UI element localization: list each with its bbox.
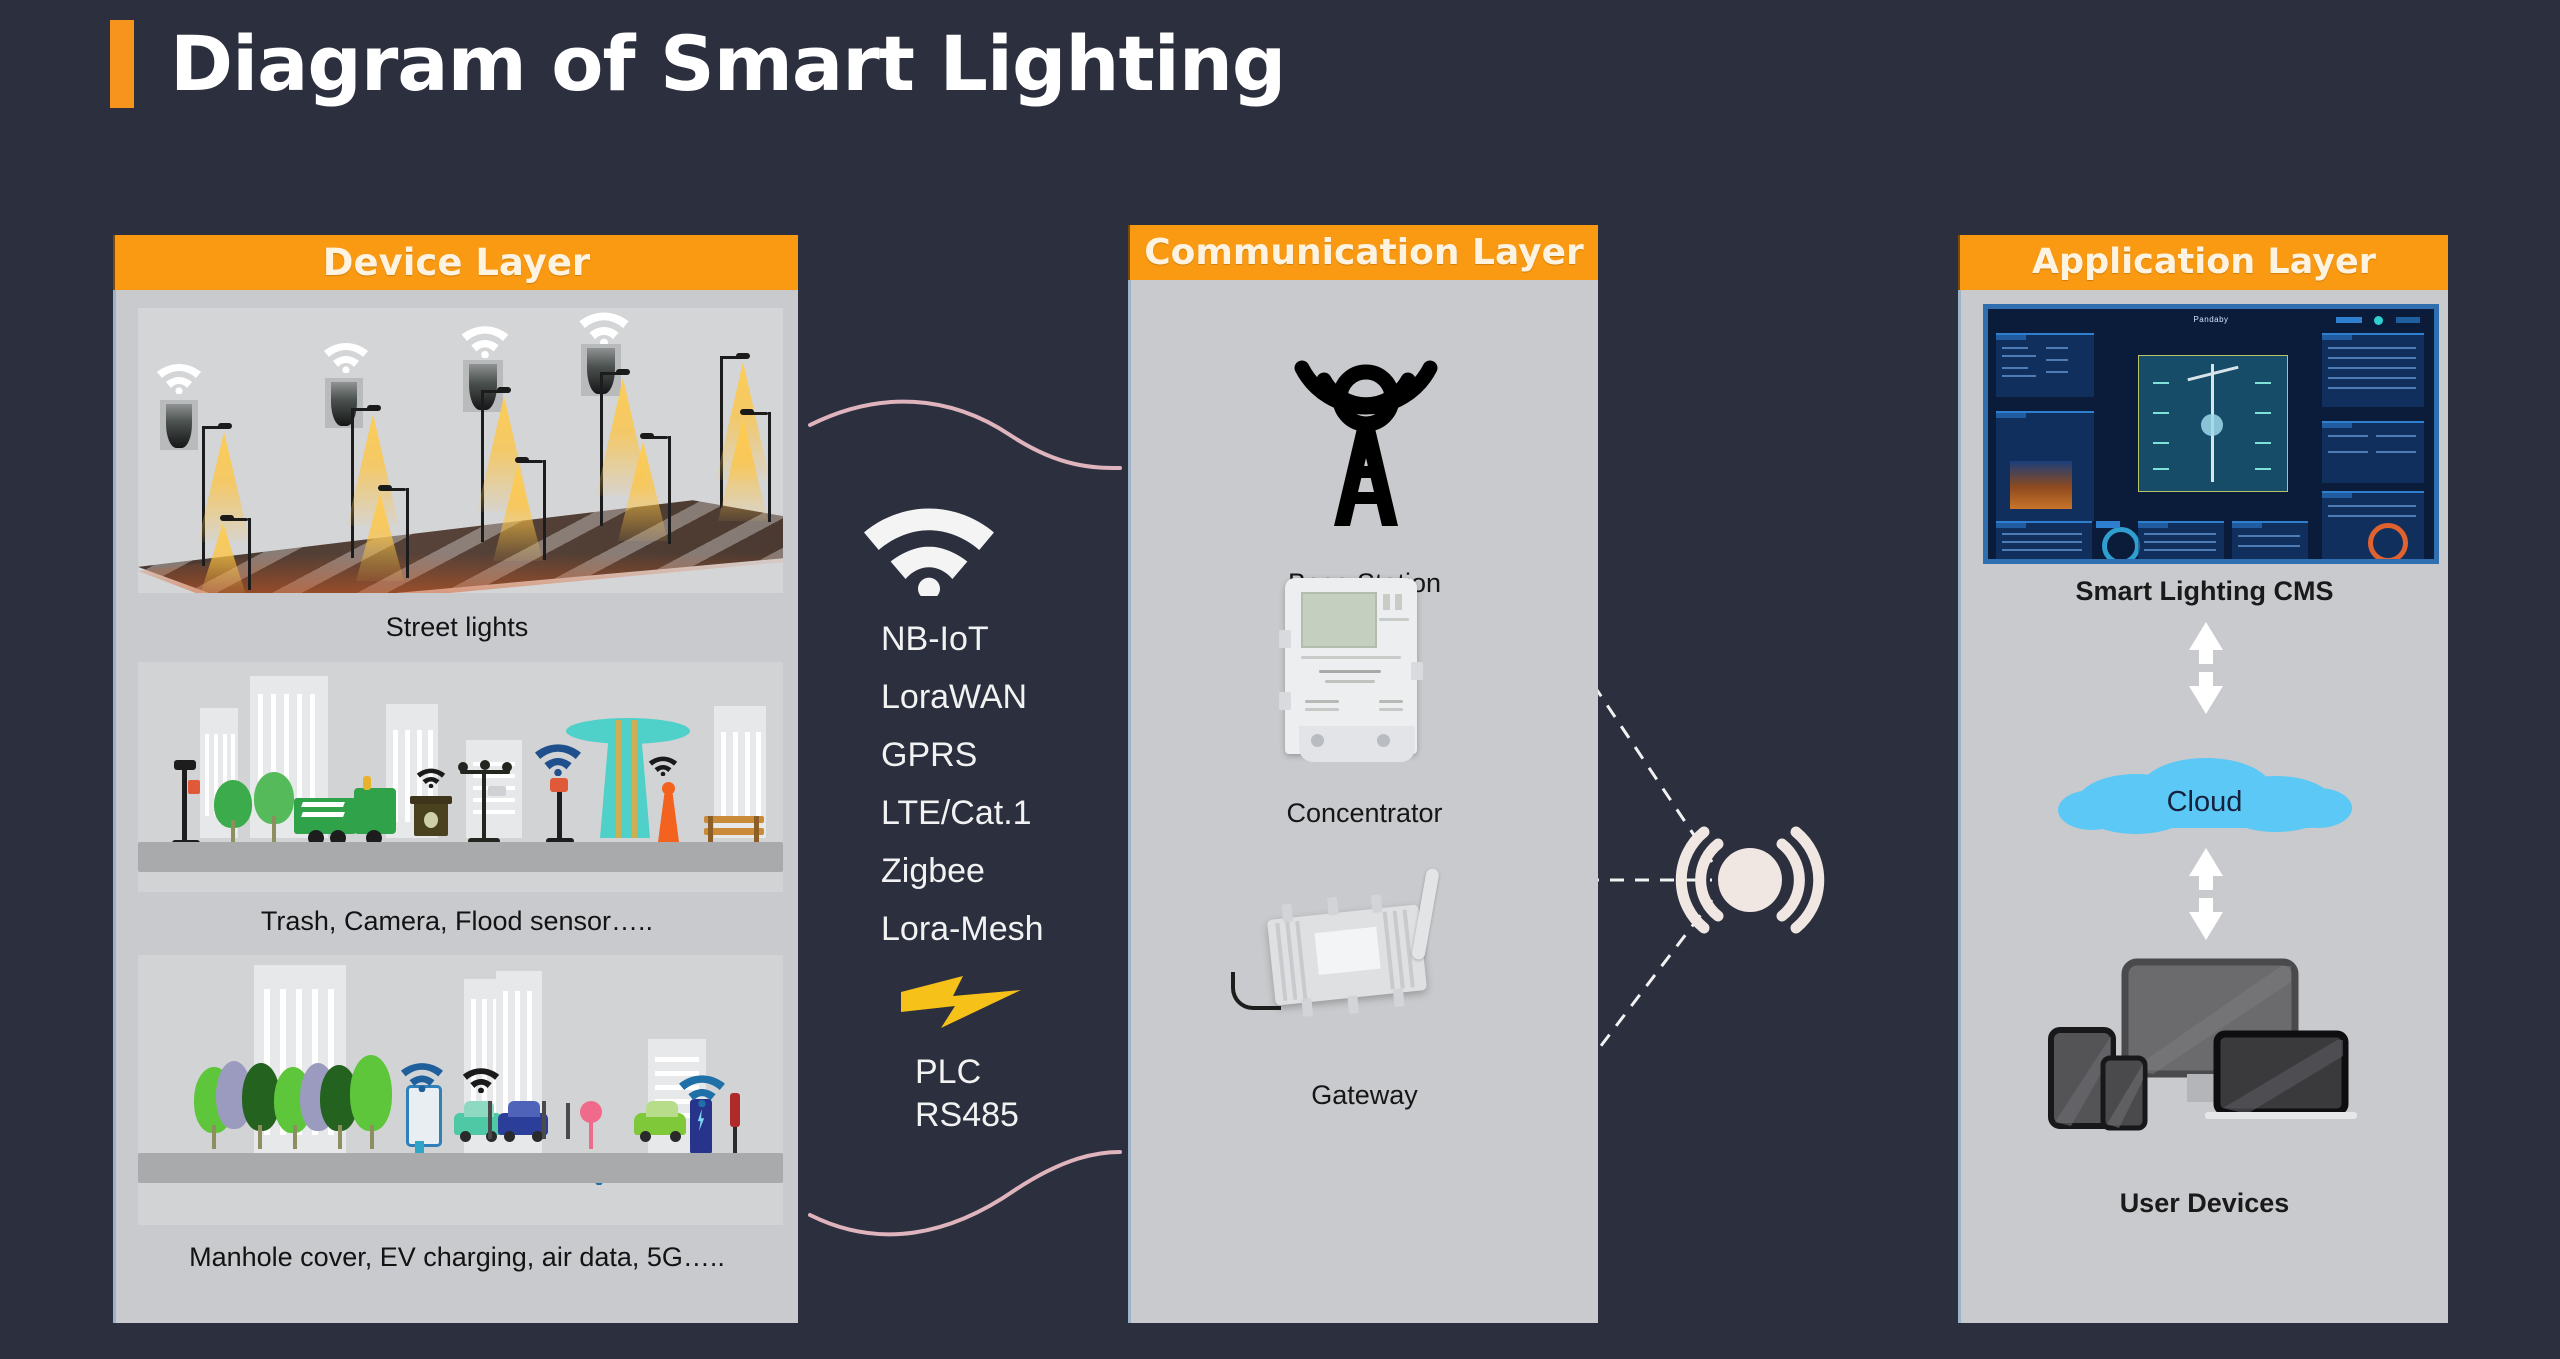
cloud-icon: Cloud (1961, 742, 2448, 862)
smart-city-caption: Trash, Camera, Flood sensor….. (116, 906, 798, 937)
cms-screen-title: Pandaby (1988, 315, 2434, 324)
diagram-canvas: Diagram of Smart Lighting Device Layer (0, 0, 2560, 1359)
smart-city-scene (138, 662, 783, 892)
protocol-item: NB-IoT (881, 622, 1115, 656)
wifi-icon (462, 1065, 500, 1098)
tree (350, 1055, 392, 1131)
title-accent-bar (110, 20, 134, 108)
pole (488, 1101, 492, 1139)
cell-tower-icon (1131, 320, 1598, 540)
protocol-item: RS485 (915, 1094, 1115, 1137)
connector-curve-top (810, 402, 1120, 468)
panel-communication-layer: Communication Layer (1128, 225, 1598, 1325)
protocol-item: PLC (915, 1051, 1115, 1094)
wifi-icon-blue (534, 740, 582, 781)
wifi-icon (416, 766, 446, 793)
fountain-stripe (616, 720, 621, 838)
wifi-icon (845, 500, 1115, 600)
concentrator-device-icon (1279, 570, 1429, 770)
lightning-bolt-icon (897, 970, 1115, 1037)
smart-city-ev-scene (138, 955, 783, 1225)
protocol-item: LoraWAN (881, 680, 1115, 714)
device-layer-body: Street lights (113, 290, 798, 1323)
protocol-item: Zigbee (881, 854, 1115, 888)
street-lights-scene (138, 308, 783, 593)
camera-sensor-icon (325, 378, 363, 428)
panel-device-layer: Device Layer (113, 235, 798, 1325)
pole (542, 1101, 546, 1139)
fountain-stripe (632, 720, 637, 838)
page-title-text: Diagram of Smart Lighting (170, 26, 1285, 102)
wifi-icon-blue (400, 1059, 444, 1097)
communication-layer-header: Communication Layer (1128, 225, 1598, 280)
application-layer-body: Pandaby (1958, 290, 2448, 1323)
protocol-item: GPRS (881, 738, 1115, 772)
application-layer-header: Application Layer (1958, 235, 2448, 290)
user-devices-icon (1961, 952, 2448, 1162)
gateway-caption: Gateway (1131, 1080, 1598, 1111)
cms-caption: Smart Lighting CMS (1961, 576, 2448, 607)
device-layer-header: Device Layer (113, 235, 798, 290)
smart-city-ev-caption: Manhole cover, EV charging, air data, 5G… (116, 1242, 798, 1273)
protocol-item: Lora-Mesh (881, 912, 1115, 946)
page-title: Diagram of Smart Lighting (110, 20, 1285, 108)
connector-curve-bottom (810, 1152, 1120, 1234)
bidirectional-arrow-icon (2183, 620, 2229, 721)
wifi-icon (460, 322, 510, 363)
protocol-list: NB-IoT LoraWAN GPRS LTE/Cat.1 Zigbee Lor… (845, 500, 1115, 1136)
user-devices-caption: User Devices (1961, 1188, 2448, 1219)
panel-application-layer: Application Layer Pandaby (1958, 235, 2448, 1325)
wifi-icon (156, 360, 202, 399)
protocol-item: LTE/Cat.1 (881, 796, 1115, 830)
street-lights-caption: Street lights (116, 612, 798, 643)
fountain-body (600, 732, 650, 838)
cloud-label: Cloud (1961, 786, 2448, 819)
bidirectional-arrow-icon (2183, 846, 2229, 947)
cms-dashboard-screen: Pandaby (1983, 304, 2439, 564)
concentrator-caption: Concentrator (1131, 798, 1598, 829)
wifi-icon (323, 339, 369, 378)
pole (566, 1103, 570, 1139)
wifi-icon-blue (678, 1071, 726, 1112)
wifi-icon (648, 754, 678, 781)
camera-sensor-icon (160, 400, 198, 450)
gateway-device-icon (1223, 880, 1503, 1040)
signal-node-icon (1660, 800, 1840, 960)
communication-layer-body: Base Station (1128, 280, 1598, 1323)
